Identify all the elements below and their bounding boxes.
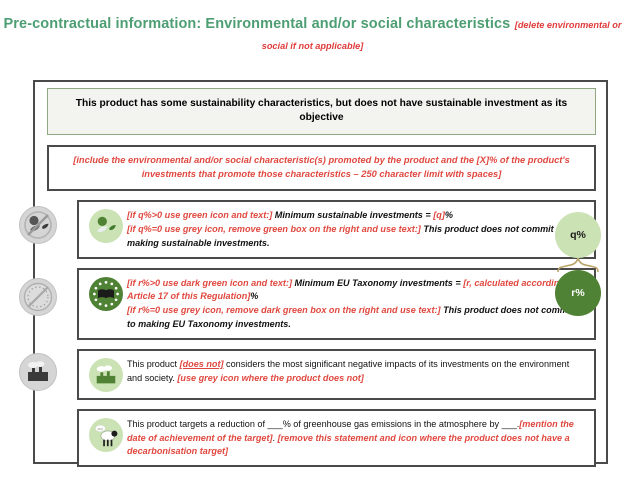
si-line1-statement: Minimum sustainable investments = <box>272 210 433 220</box>
r-percent-label: r% <box>571 287 584 299</box>
eu-book-icon <box>89 277 123 311</box>
eu-line1-percent: % <box>250 291 258 301</box>
dec-text-a: This product targets a reduction of ___%… <box>127 419 519 429</box>
sustainable-investments-text: [if q%>0 use green icon and text:] Minim… <box>123 208 584 250</box>
eu-taxonomy-text: [if r%>0 use dark green icon and text:] … <box>123 276 584 332</box>
eu-taxonomy-box: [if r%>0 use dark green icon and text:] … <box>77 268 596 340</box>
page-title-main: Pre-contractual information: Environment… <box>4 16 511 32</box>
sustainable-investments-box: [if q%>0 use green icon and text:] Minim… <box>77 200 596 258</box>
content-stack: This product has some sustainability cha… <box>47 88 596 476</box>
q-percent-bubble: q% <box>555 212 601 258</box>
row-principal-adverse-impacts: This product [does not] considers the mo… <box>47 349 596 400</box>
pai-text-d: [use grey icon where the product does no… <box>177 373 363 383</box>
row-decarbonisation-target: co₂ This product targets a reduction of … <box>47 409 596 467</box>
instruction-box: [include the environmental and/or social… <box>47 145 596 191</box>
eu-line1-statement: Minimum EU Taxonomy investments = <box>292 278 463 288</box>
principal-adverse-impacts-box: This product [does not] considers the mo… <box>77 349 596 400</box>
factory-icon <box>89 358 123 392</box>
eu-line2-condition: [if r%=0 use grey icon, remove dark gree… <box>127 305 441 315</box>
headline-statement-box: This product has some sustainability cha… <box>47 88 596 135</box>
factory-crossed-icon <box>19 353 57 391</box>
q-percent-label: q% <box>570 229 586 241</box>
si-line1-condition: [if q%>0 use green icon and text:] <box>127 210 272 220</box>
pai-text-a: This product <box>127 359 180 369</box>
sheep-co2-icon: co₂ <box>89 418 123 452</box>
row-eu-taxonomy: [if r%>0 use dark green icon and text:] … <box>47 268 596 340</box>
eu-line1-condition: [if r%>0 use dark green icon and text:] <box>127 278 292 288</box>
headline-statement-text: This product has some sustainability cha… <box>76 98 567 123</box>
compass-crossed-icon <box>19 278 57 316</box>
globe-leaf-icon <box>89 209 123 243</box>
si-line1-percent: % <box>445 210 453 220</box>
page-title: Pre-contractual information: Environment… <box>0 0 625 56</box>
svg-text:co₂: co₂ <box>98 426 104 431</box>
si-line2-condition: [if q%=0 use grey icon, remove green box… <box>127 224 421 234</box>
globe-leaf-crossed-icon <box>19 206 57 244</box>
row-sustainable-investments: [if q%>0 use green icon and text:] Minim… <box>47 200 596 258</box>
pai-text-b: [does not] <box>180 359 224 369</box>
si-line1-placeholder: [q] <box>433 210 445 220</box>
decarbonisation-target-text: This product targets a reduction of ___%… <box>123 417 584 459</box>
principal-adverse-impacts-text: This product [does not] considers the mo… <box>123 357 584 386</box>
r-percent-bubble: r% <box>555 270 601 316</box>
instruction-text: [include the environmental and/or social… <box>73 155 570 178</box>
decarbonisation-target-box: co₂ This product targets a reduction of … <box>77 409 596 467</box>
